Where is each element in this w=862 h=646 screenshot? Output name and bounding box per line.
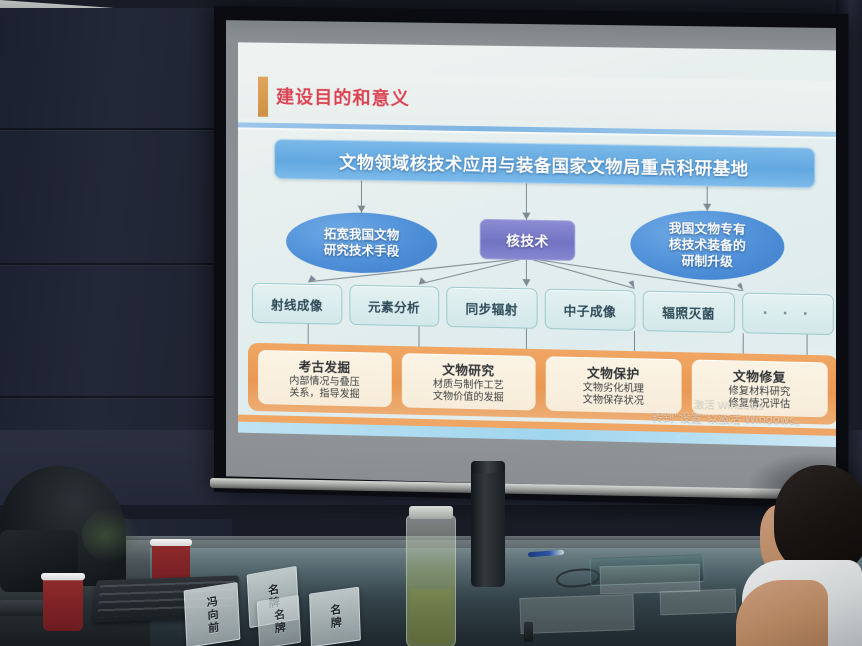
slide-title: 建设目的和意义	[276, 83, 410, 111]
conference-room-scene: 建设目的和意义	[0, 0, 862, 646]
name-placard-4-text: 名牌	[270, 608, 287, 636]
technique-box-3: 同步辐射	[446, 287, 537, 329]
presentation-slide: 建设目的和意义	[238, 42, 836, 447]
outcome-right-line3: 研制升级	[682, 253, 733, 270]
application-box-2: 文物研究 材质与制作工艺 文物价值的发掘	[401, 353, 535, 410]
outcome-right-line1: 我国文物专有	[669, 220, 746, 238]
core-technology-box: 核技术	[480, 219, 576, 261]
name-placard-3-text: 名牌	[327, 603, 344, 631]
projection-screen: 建设目的和意义	[214, 6, 848, 508]
slide-header-box: 文物领域核技术应用与装备国家文物局重点科研基地	[274, 139, 815, 188]
technique-box-2: 元素分析	[349, 285, 439, 327]
outcome-ellipse-left: 拓宽我国文物 研究技术手段	[286, 211, 437, 274]
application-1-title: 考古发掘	[299, 356, 351, 376]
tea-jar	[406, 515, 456, 646]
technique-box-more: · · ·	[742, 293, 834, 336]
name-placard-3: 名牌	[309, 587, 361, 646]
application-4-title: 文物修复	[733, 365, 786, 385]
paper-cup-front	[43, 573, 83, 631]
person-head	[774, 465, 862, 573]
technique-box-5: 辐照灭菌	[643, 291, 735, 333]
technique-box-1: 射线成像	[252, 283, 342, 325]
name-placard-1-text: 冯向前	[203, 594, 221, 635]
application-2-line2: 文物价值的发掘	[433, 391, 504, 405]
projection-screen-surface: 建设目的和意义	[226, 20, 836, 492]
thermos	[471, 467, 505, 587]
outcome-left-line2: 研究技术手段	[324, 242, 400, 260]
outcome-left-line1: 拓宽我国文物	[324, 226, 400, 243]
document-sheet-3	[660, 589, 737, 616]
title-accent-bar	[258, 77, 268, 117]
application-2-title: 文物研究	[442, 359, 494, 379]
outcome-right-line2: 核技术装备的	[669, 236, 746, 254]
application-3-title: 文物保护	[587, 362, 640, 382]
application-box-1: 考古发掘 内部情况与叠压 关系，指导发掘	[258, 350, 391, 407]
remote-control	[524, 622, 533, 642]
windows-activation-watermark: 激活 Windows 转到"设置"以激活 Windows。	[626, 396, 832, 428]
name-placard-1: 冯向前	[184, 582, 241, 646]
outcome-ellipse-right: 我国文物专有 核技术装备的 研制升级	[630, 209, 784, 281]
name-placard-4: 名牌	[257, 595, 301, 646]
document-sheet-1	[519, 594, 634, 634]
technique-row: 射线成像 元素分析 同步辐射 中子成像 辐照灭菌 · · ·	[252, 283, 834, 335]
technique-box-4: 中子成像	[544, 289, 635, 331]
plant	[82, 508, 140, 562]
application-1-line2: 关系，指导发掘	[289, 388, 359, 402]
